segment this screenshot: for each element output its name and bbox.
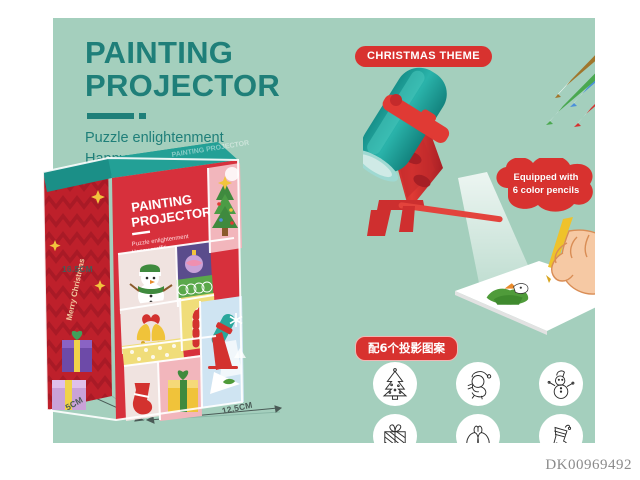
pattern-icon-snowman	[519, 358, 595, 410]
sku-code: DK00969492	[545, 457, 632, 474]
equipped-callout-text: Equipped with 6 color pencils	[490, 172, 595, 198]
christmas-stocking-icon	[539, 414, 583, 443]
christmas-tree-icon	[373, 362, 417, 406]
equipped-callout: Equipped with 6 color pencils	[490, 158, 595, 216]
gift-box-icon	[373, 414, 417, 443]
pattern-icon-christmas-stocking	[519, 410, 595, 443]
product-box-illustration: Merry Christmas	[0, 120, 300, 425]
jingle-bells-icon	[456, 414, 500, 443]
pattern-icon-grid	[353, 358, 595, 443]
santa-claus-icon	[456, 362, 500, 406]
title-divider	[87, 113, 335, 119]
snowman-icon	[539, 362, 583, 406]
equipped-line1: Equipped with	[490, 172, 595, 185]
pattern-icon-jingle-bells	[436, 410, 519, 443]
pattern-icon-gift-box	[353, 410, 436, 443]
box-logo-badge	[225, 167, 239, 181]
divider-dot	[139, 113, 146, 119]
dimension-height-label: 16.5CM	[62, 264, 93, 274]
pattern-icon-santa-claus	[436, 358, 519, 410]
product-title-line1: PAINTING	[85, 36, 335, 69]
divider-bar	[87, 113, 134, 119]
product-title-line2: PROJECTOR	[85, 69, 335, 102]
hand-drawing-scene	[443, 213, 595, 348]
product-marketing-image: PAINTING PROJECTOR Puzzle enlightenment …	[0, 0, 640, 480]
box-front-face: PAINTING PROJECTOR Puzzle enlightenment …	[112, 160, 246, 421]
pattern-icon-christmas-tree	[353, 358, 436, 410]
box-side-panel: Merry Christmas	[43, 158, 112, 410]
equipped-line2: 6 color pencils	[490, 185, 595, 198]
